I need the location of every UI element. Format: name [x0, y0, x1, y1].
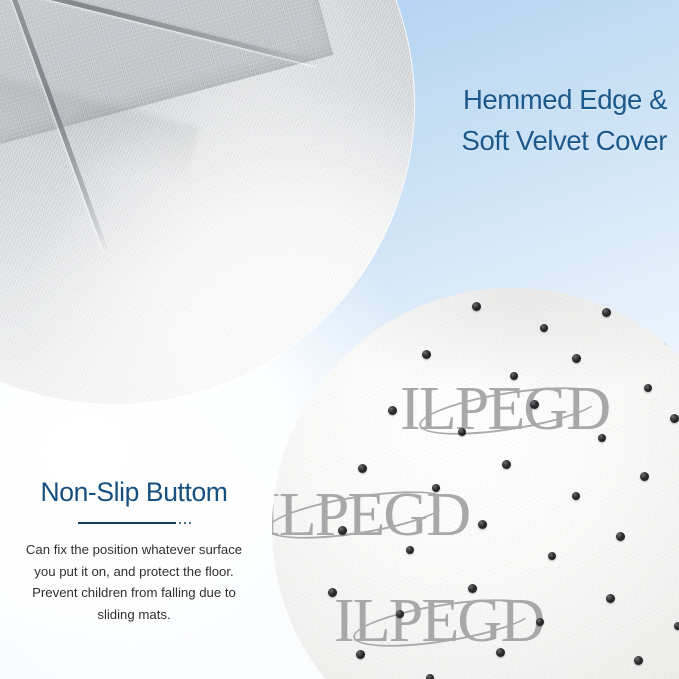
- divider-dot-1: [179, 522, 181, 524]
- headline-line-2: Soft Velvet Cover: [462, 121, 667, 162]
- non-slip-dot: [472, 302, 481, 311]
- non-slip-dot: [422, 350, 431, 359]
- non-slip-dot: [634, 656, 643, 665]
- non-slip-dot: [388, 406, 397, 415]
- non-slip-dot: [670, 414, 679, 423]
- non-slip-dot: [510, 372, 518, 380]
- feature-body-line-1: Can fix the position whatever surface: [8, 539, 260, 560]
- mat-watermark-logo-1: ILPEGD: [400, 374, 609, 445]
- non-slip-dot: [396, 610, 404, 618]
- non-slip-dot: [536, 618, 544, 626]
- non-slip-dot: [458, 428, 466, 436]
- non-slip-dot: [426, 674, 434, 679]
- non-slip-mat-photo: ILPEGD ILPEGD ILPEGD: [272, 288, 679, 679]
- feature-divider: [8, 522, 260, 524]
- non-slip-dot: [358, 464, 367, 473]
- non-slip-dot: [644, 384, 652, 392]
- feature-title: Non-Slip Buttom: [8, 477, 260, 507]
- non-slip-dot: [406, 546, 414, 554]
- non-slip-dot: [572, 492, 580, 500]
- non-slip-dot: [540, 324, 548, 332]
- feature-body-line-2: you put it on, and protect the floor.: [8, 561, 260, 582]
- non-slip-dot: [616, 532, 625, 541]
- non-slip-dot: [432, 484, 440, 492]
- divider-line: [78, 522, 176, 524]
- non-slip-dot: [356, 650, 365, 659]
- non-slip-dot: [478, 520, 487, 529]
- feature-body: Can fix the position whatever surface yo…: [8, 539, 260, 625]
- feature-body-line-3: Prevent children from falling due to: [8, 582, 260, 603]
- non-slip-dot: [606, 594, 615, 603]
- non-slip-dot: [598, 434, 606, 442]
- non-slip-dot: [530, 400, 539, 409]
- non-slip-dot: [572, 354, 581, 363]
- non-slip-dot: [674, 622, 679, 630]
- product-feature-graphic: ILPEGD ILPEGD ILPEGD Hemmed Edge & Soft …: [0, 0, 679, 679]
- non-slip-dot: [328, 588, 337, 597]
- mat-watermark-logo-3: ILPEGD: [334, 586, 543, 657]
- mat-watermark-text-3: ILPEGD: [334, 587, 543, 655]
- divider-dot-2: [184, 522, 186, 524]
- mat-watermark-logo-2: ILPEGD: [272, 480, 469, 551]
- non-slip-dot: [664, 336, 672, 344]
- headline-line-1: Hemmed Edge &: [462, 80, 667, 121]
- mat-watermark-text-1: ILPEGD: [400, 375, 609, 443]
- non-slip-dot: [338, 526, 347, 535]
- non-slip-dot: [496, 648, 505, 657]
- feature-body-line-4: sliding mats.: [8, 604, 260, 625]
- feature-block: Non-Slip Buttom Can fix the position wha…: [8, 477, 260, 625]
- non-slip-dot: [502, 460, 511, 469]
- non-slip-dot: [548, 552, 556, 560]
- non-slip-dot: [602, 308, 611, 317]
- mat-watermark-text-2: ILPEGD: [272, 481, 469, 549]
- headline: Hemmed Edge & Soft Velvet Cover: [462, 80, 667, 161]
- non-slip-dot: [640, 472, 649, 481]
- divider-dot-3: [189, 522, 191, 524]
- non-slip-dot: [468, 584, 477, 593]
